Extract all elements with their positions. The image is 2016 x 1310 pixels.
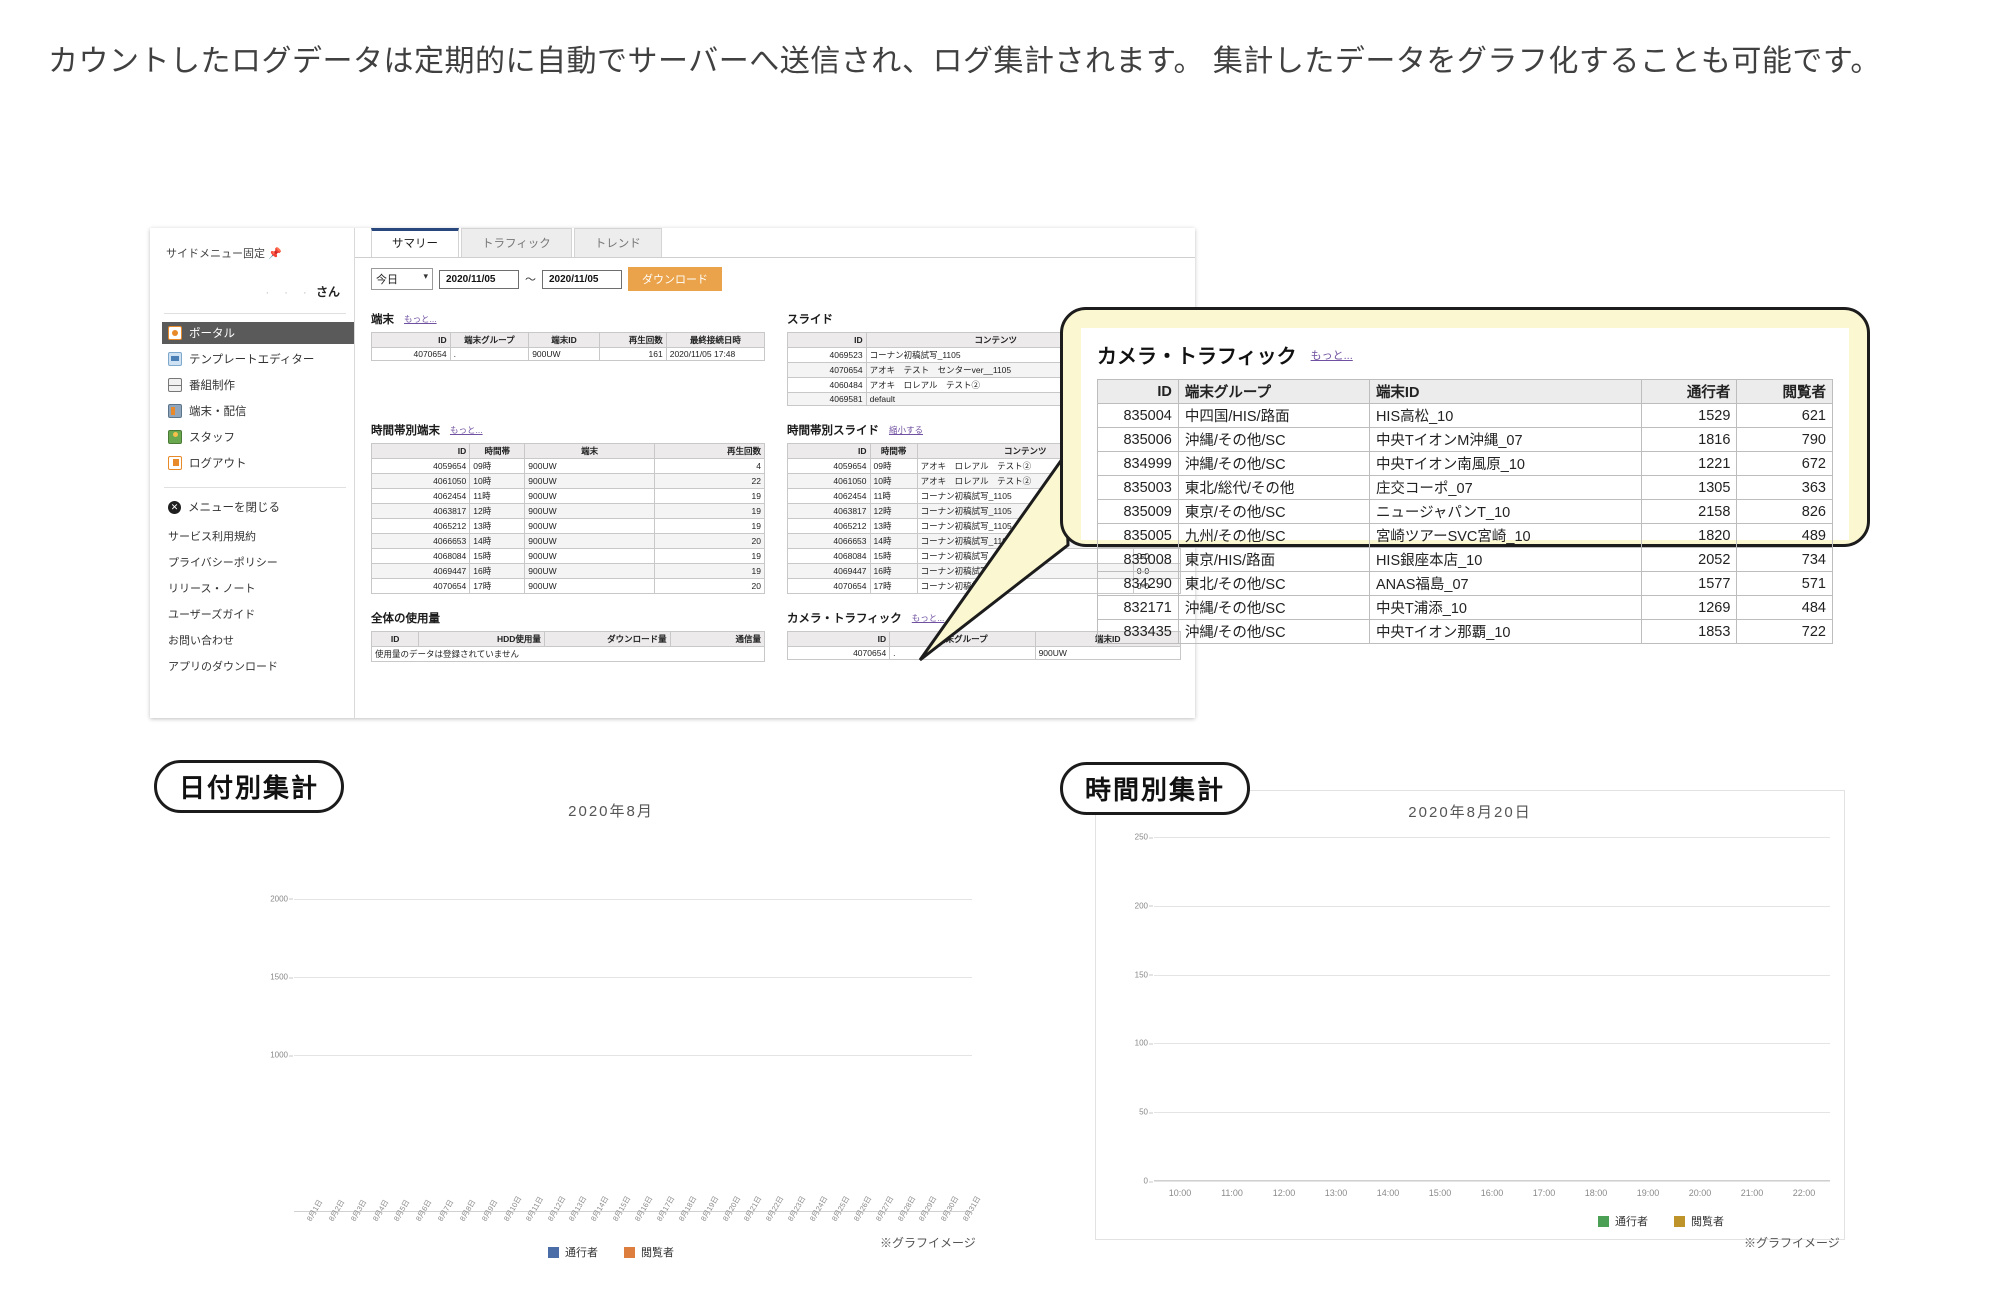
- sidebar-item-label: 端末・配信: [189, 403, 247, 419]
- sidebar: サイドメニュー固定 📌 · · · さん ポータル テンプレートエディター 番組…: [150, 228, 355, 718]
- x-axis-label: 8月19日: [688, 1212, 710, 1270]
- badge-hourly-aggregation: 時間別集計: [1060, 762, 1250, 815]
- panel-title-text: 端末: [371, 311, 394, 327]
- tab-traffic[interactable]: トラフィック: [461, 228, 572, 257]
- cell-0: 4065212: [372, 519, 470, 534]
- x-axis-label: 8月16日: [622, 1212, 644, 1270]
- bar-slot: [710, 836, 732, 1212]
- col-id: ID: [372, 632, 419, 647]
- bar-slot: [338, 836, 360, 1212]
- bar-slot: [644, 836, 666, 1212]
- x-axis-label: 8月12日: [535, 1212, 557, 1270]
- col-device-group: 端末グループ: [450, 333, 529, 348]
- cell-1: 中四国/HIS/路面: [1178, 404, 1369, 428]
- bar-slot: [1622, 837, 1674, 1181]
- sidebar-divider-top: [164, 313, 346, 314]
- date-to-input[interactable]: 2020/11/05: [542, 270, 622, 289]
- col-play-count: 再生回数: [599, 333, 666, 348]
- cell-2: ニュージャパンT_10: [1369, 500, 1641, 524]
- sidebar-item-portal[interactable]: ポータル: [162, 322, 354, 344]
- x-axis-label: 8月17日: [644, 1212, 666, 1270]
- cell-0: 4062454: [788, 489, 871, 504]
- panel-device-more-link[interactable]: もっと...: [404, 313, 437, 325]
- x-axis-label: 8月11日: [513, 1212, 535, 1270]
- legend-item-passers[interactable]: 通行者: [548, 1244, 598, 1260]
- staff-icon: [168, 430, 182, 444]
- cell-0: 834999: [1098, 452, 1179, 476]
- panel-device-hourly-title: 時間帯別端末 もっと...: [371, 422, 765, 438]
- x-axis-label: 10:00: [1154, 1181, 1206, 1239]
- cell-2: 900UW: [525, 474, 655, 489]
- cell-0: 4061050: [372, 474, 470, 489]
- y-axis-tick: 0: [1144, 1177, 1148, 1186]
- y-axis-tick: 200: [1135, 901, 1148, 910]
- cell-3: 1529: [1641, 404, 1737, 428]
- x-axis-label: 8月25日: [819, 1212, 841, 1270]
- cell-3: 20: [654, 579, 764, 594]
- cell-4: 790: [1737, 428, 1833, 452]
- panel-usage: 全体の使用量 ID HDD使用量 ダウンロード量 通信量 使用量のデータは登録さ…: [371, 604, 765, 662]
- callout-camera-traffic-table: ID 端末グループ 端末ID 通行者 閲覧者 835004中四国/HIS/路面H…: [1097, 379, 1833, 644]
- page-headline: カウントしたログデータは定期的に自動でサーバーへ送信され、ログ集計されます。 集…: [48, 36, 1948, 80]
- table-row: 834290東北/その他/SCANAS福島_071577571: [1098, 572, 1833, 596]
- cell-2: ANAS福島_07: [1369, 572, 1641, 596]
- tab-trend[interactable]: トレンド: [574, 228, 662, 257]
- cell-0: 4068084: [372, 549, 470, 564]
- bar-slot: [1258, 837, 1310, 1181]
- bar-slot: [600, 836, 622, 1212]
- bar-slot: [907, 836, 929, 1212]
- col-hdd-usage: HDD使用量: [419, 632, 545, 647]
- legend-label: 閲覧者: [641, 1244, 674, 1260]
- dashboard-screenshot: サイドメニュー固定 📌 · · · さん ポータル テンプレートエディター 番組…: [150, 228, 1195, 718]
- table-row: 406105010時900UW22: [372, 474, 765, 489]
- cell-2: HIS高松_10: [1369, 404, 1641, 428]
- date-range-select[interactable]: 今日: [371, 268, 433, 290]
- cell-1: 16時: [470, 564, 525, 579]
- cell-3: 22: [654, 474, 764, 489]
- col-device-id: 端末ID: [1369, 380, 1641, 404]
- bar-slot: [1414, 837, 1466, 1181]
- cell-1: 12時: [870, 504, 917, 519]
- download-button[interactable]: ダウンロード: [628, 267, 722, 291]
- cell-0: 4066653: [372, 534, 470, 549]
- cell-id: 4060484: [788, 378, 867, 393]
- cell-4: 734: [1737, 548, 1833, 572]
- user-name-row: · · · さん: [164, 283, 354, 300]
- bar-slot: [1362, 837, 1414, 1181]
- bar-slot: [885, 836, 907, 1212]
- bar-slot: [294, 836, 316, 1212]
- cell-3: 1820: [1641, 524, 1737, 548]
- cell-2: 中央Tイオン那覇_10: [1369, 620, 1641, 644]
- x-axis-label: 8月8日: [447, 1212, 469, 1270]
- sidebar-item-staff[interactable]: スタッフ: [164, 426, 354, 448]
- bar-slot: [753, 836, 775, 1212]
- cell-3: 19: [654, 564, 764, 579]
- cell-0: 833435: [1098, 620, 1179, 644]
- sidebar-item-template-editor[interactable]: テンプレートエディター: [164, 348, 354, 370]
- cell-1: 15時: [870, 549, 917, 564]
- badge-daily-aggregation: 日付別集計: [154, 760, 344, 813]
- dashboard-toolbar: 今日 2020/11/05 ～ 2020/11/05 ダウンロード: [355, 258, 1195, 300]
- cell-1: 16時: [870, 564, 917, 579]
- cell-0: 4061050: [788, 474, 871, 489]
- bar-slot: [469, 836, 491, 1212]
- x-axis-label: 8月2日: [316, 1212, 338, 1270]
- bar-slot: [1726, 837, 1778, 1181]
- cell-1: 17時: [870, 579, 917, 594]
- sidebar-item-device-delivery[interactable]: 端末・配信: [164, 400, 354, 422]
- legend-swatch: [624, 1247, 635, 1258]
- panel-device-hourly-more-link[interactable]: もっと...: [450, 424, 483, 436]
- bar-slot: [578, 836, 600, 1212]
- table-row: 835009東京/その他/SCニュージャパンT_102158826: [1098, 500, 1833, 524]
- legend-item-viewers[interactable]: 閲覧者: [1674, 1213, 1724, 1229]
- program-production-icon: [168, 378, 182, 392]
- table-row: 406381712時900UW19: [372, 504, 765, 519]
- table-row: 832171沖縄/その他/SC中央T浦添_101269484: [1098, 596, 1833, 620]
- cell-1: 09時: [870, 459, 917, 474]
- panel-device: 端末 もっと... ID 端末グループ 端末ID 再生回数 最終接続日時 407…: [371, 305, 765, 406]
- col-device-group: 端末グループ: [890, 632, 1035, 647]
- panel-title-text: 時間帯別スライド: [787, 422, 879, 438]
- chart-hourly-note: ※グラフイメージ: [1744, 1234, 1840, 1251]
- sidebar-item-logout[interactable]: ログアウト: [164, 452, 354, 474]
- panel-title-text: 全体の使用量: [371, 610, 440, 626]
- cell-2: 900UW: [525, 459, 655, 474]
- cell-4: 484: [1737, 596, 1833, 620]
- bar-slot: [863, 836, 885, 1212]
- chart-daily-legend: 通行者 閲覧者: [236, 1244, 986, 1260]
- x-axis-label: 19:00: [1622, 1181, 1674, 1239]
- cell-4: 826: [1737, 500, 1833, 524]
- cell-device-id: 900UW: [1035, 647, 1180, 660]
- panel-title-text: 時間帯別端末: [371, 422, 440, 438]
- table-row: 406521213時900UW19: [372, 519, 765, 534]
- cell-0: 834290: [1098, 572, 1179, 596]
- cell-0: 835009: [1098, 500, 1179, 524]
- x-axis-label: 8月14日: [578, 1212, 600, 1270]
- cell-4: 722: [1737, 620, 1833, 644]
- pin-icon[interactable]: 📌: [268, 248, 282, 260]
- portal-icon: [168, 326, 182, 340]
- panel-camera-more-link[interactable]: もっと...: [912, 612, 945, 624]
- x-axis-label: 8月5日: [382, 1212, 404, 1270]
- x-axis-label: 8月3日: [338, 1212, 360, 1270]
- y-axis-tick: 100: [1135, 1039, 1148, 1048]
- cell-device-group: .: [450, 348, 529, 361]
- sidebar-pin-toggle[interactable]: サイドメニュー固定 📌: [166, 245, 354, 261]
- col-play-count: 再生回数: [654, 444, 764, 459]
- cell-1: 10時: [870, 474, 917, 489]
- cell-1: 14時: [870, 534, 917, 549]
- cell-3: 1816: [1641, 428, 1737, 452]
- col-traffic: 通信量: [670, 632, 764, 647]
- panel-slide-hourly-collapse-link[interactable]: 縮小する: [889, 424, 923, 436]
- table-row: 4070654 . 900UW 161 2020/11/05 17:48: [372, 348, 765, 361]
- sidebar-links: サービス利用規約 プライバシーポリシー リリース・ノート ユーザーズガイド お問…: [164, 523, 354, 679]
- chart-hourly-xlabels: 10:0011:0012:0013:0014:0015:0016:0017:00…: [1154, 1181, 1830, 1239]
- callout-content: カメラ・トラフィック もっと... ID 端末グループ 端末ID 通行者 閲覧者…: [1081, 328, 1849, 540]
- sidebar-link-contact[interactable]: お問い合わせ: [164, 627, 354, 653]
- cell-id: 4070654: [372, 348, 451, 361]
- x-axis-label: 8月20日: [710, 1212, 732, 1270]
- cell-0: 4070654: [788, 579, 871, 594]
- cell-1: 14時: [470, 534, 525, 549]
- y-axis-tick: 250: [1135, 833, 1148, 842]
- cell-1: 15時: [470, 549, 525, 564]
- chart-daily: 2020年8月 100015002000 8月1日8月2日8月3日8月4日8月5…: [236, 790, 986, 1270]
- template-editor-icon: [168, 352, 182, 366]
- legend-item-passers[interactable]: 通行者: [1598, 1213, 1648, 1229]
- user-name-suffix: さん: [316, 285, 340, 299]
- device-delivery-icon: [168, 404, 182, 418]
- cell-3: 2158: [1641, 500, 1737, 524]
- x-axis-label: 8月18日: [666, 1212, 688, 1270]
- cell-3: 20: [654, 534, 764, 549]
- cell-1: 東北/総代/その他: [1178, 476, 1369, 500]
- bar-slot: [928, 836, 950, 1212]
- cell-0: 4069447: [372, 564, 470, 579]
- cell-3: 1269: [1641, 596, 1737, 620]
- sidebar-item-program-production[interactable]: 番組制作: [164, 374, 354, 396]
- x-axis-label: 8月13日: [557, 1212, 579, 1270]
- callout-more-link[interactable]: もっと...: [1311, 347, 1353, 363]
- sidebar-nav: ポータル テンプレートエディター 番組制作 端末・配信 スタッフ ログアウト: [164, 322, 354, 474]
- col-hour: 時間帯: [870, 444, 917, 459]
- col-viewers: 閲覧者: [1737, 380, 1833, 404]
- device-hourly-body: 405965409時900UW4406105010時900UW224062454…: [372, 459, 765, 594]
- bar-slot: [666, 836, 688, 1212]
- panel-title-text: スライド: [787, 311, 833, 327]
- sidebar-item-label: ログアウト: [189, 455, 247, 471]
- cell-3: 1577: [1641, 572, 1737, 596]
- chart-hourly: 2020年8月20日 050100150200250 10:0011:0012:…: [1095, 790, 1845, 1240]
- x-axis-label: 8月24日: [797, 1212, 819, 1270]
- table-row: 407065417時900UW20: [372, 579, 765, 594]
- chart-daily-note: ※グラフイメージ: [880, 1234, 976, 1251]
- x-axis-label: 8月21日: [732, 1212, 754, 1270]
- bar-slot: [797, 836, 819, 1212]
- bar-slot: [732, 836, 754, 1212]
- x-axis-label: 8月4日: [360, 1212, 382, 1270]
- cell-id: 4070654: [788, 647, 890, 660]
- cell-1: 東京/その他/SC: [1178, 500, 1369, 524]
- device-hourly-table: ID 時間帯 端末 再生回数 405965409時900UW4406105010…: [371, 443, 765, 594]
- cell-0: 4062454: [372, 489, 470, 504]
- panel-title-text: カメラ・トラフィック: [787, 610, 902, 626]
- cell-1: 九州/その他/SC: [1178, 524, 1369, 548]
- chart-hourly-legend: 通行者 閲覧者: [1096, 1213, 1844, 1229]
- cell-4: 489: [1737, 524, 1833, 548]
- close-icon: ✕: [168, 501, 181, 514]
- cell-0: 832171: [1098, 596, 1179, 620]
- panel-device-title: 端末 もっと...: [371, 311, 765, 327]
- sidebar-item-label: ポータル: [189, 325, 235, 341]
- x-axis-label: 17:00: [1518, 1181, 1570, 1239]
- cell-0: 835008: [1098, 548, 1179, 572]
- sidebar-link-terms[interactable]: サービス利用規約: [164, 523, 354, 549]
- bar-slot: [447, 836, 469, 1212]
- bar-slot: [1466, 837, 1518, 1181]
- table-row: 4070654 . 900UW: [788, 647, 1181, 660]
- x-axis-label: 8月9日: [469, 1212, 491, 1270]
- dashboard-tabs: サマリー トラフィック トレンド: [355, 228, 1195, 258]
- cell-4: 571: [1737, 572, 1833, 596]
- x-axis-label: 8月26日: [841, 1212, 863, 1270]
- bar-slot: [316, 836, 338, 1212]
- bar-slot: [403, 836, 425, 1212]
- cell-1: 11時: [870, 489, 917, 504]
- cell-3: 1305: [1641, 476, 1737, 500]
- bar-slot: [1518, 837, 1570, 1181]
- bar-slot: [382, 836, 404, 1212]
- cell-3: 19: [654, 549, 764, 564]
- logout-icon: [168, 456, 182, 470]
- cell-2: 900UW: [525, 504, 655, 519]
- cell-0: 835003: [1098, 476, 1179, 500]
- col-id: ID: [788, 444, 871, 459]
- user-name-masked: · · ·: [266, 287, 313, 299]
- col-device-id: 端末ID: [529, 333, 600, 348]
- date-from-input[interactable]: 2020/11/05: [439, 270, 519, 289]
- col-device-group: 端末グループ: [1178, 380, 1369, 404]
- col-last-connect: 最終接続日時: [666, 333, 764, 348]
- camera-traffic-callout: カメラ・トラフィック もっと... ID 端末グループ 端末ID 通行者 閲覧者…: [1060, 307, 1870, 547]
- callout-table-body: 835004中四国/HIS/路面HIS高松_101529621835006沖縄/…: [1098, 404, 1833, 644]
- col-hour: 時間帯: [470, 444, 525, 459]
- bar-slot: [841, 836, 863, 1212]
- cell-1: 沖縄/その他/SC: [1178, 428, 1369, 452]
- table-header-row: ID 端末グループ 端末ID 再生回数 最終接続日時: [372, 333, 765, 348]
- cell-2: 庄交コーポ_07: [1369, 476, 1641, 500]
- table-row: 834999沖縄/その他/SC中央Tイオン南風原_101221672: [1098, 452, 1833, 476]
- sidebar-close-menu[interactable]: ✕ メニューを閉じる: [164, 496, 354, 518]
- cell-1: 沖縄/その他/SC: [1178, 452, 1369, 476]
- table-row: 406665314時900UW20: [372, 534, 765, 549]
- table-row: 835003東北/総代/その他庄交コーポ_071305363: [1098, 476, 1833, 500]
- cell-3: 19: [654, 489, 764, 504]
- sidebar-link-app-download[interactable]: アプリのダウンロード: [164, 653, 354, 679]
- x-axis-label: 8月22日: [753, 1212, 775, 1270]
- col-download: ダウンロード量: [544, 632, 670, 647]
- cell-2: 宮崎ツアーSVC宮崎_10: [1369, 524, 1641, 548]
- x-axis-label: 18:00: [1570, 1181, 1622, 1239]
- cell-2: HIS銀座本店_10: [1369, 548, 1641, 572]
- cell-0: 4070654: [372, 579, 470, 594]
- bar-slot: [688, 836, 710, 1212]
- table-header-row: ID 端末グループ 端末ID 通行者 閲覧者: [1098, 380, 1833, 404]
- bar-slot: [1674, 837, 1726, 1181]
- x-axis-label: 8月1日: [294, 1212, 316, 1270]
- cell-1: 東京/HIS/路面: [1178, 548, 1369, 572]
- cell-1: 13時: [470, 519, 525, 534]
- bar-slot: [535, 836, 557, 1212]
- sidebar-link-release-notes[interactable]: リリース・ノート: [164, 575, 354, 601]
- table-row: 406808415時900UW19: [372, 549, 765, 564]
- x-axis-label: 8月7日: [425, 1212, 447, 1270]
- cell-0: 4063817: [788, 504, 871, 519]
- bar-slot: [360, 836, 382, 1212]
- sidebar-item-label: テンプレートエディター: [189, 351, 314, 367]
- table-row: 835005九州/その他/SC宮崎ツアーSVC宮崎_101820489: [1098, 524, 1833, 548]
- callout-title: カメラ・トラフィック もっと...: [1097, 340, 1833, 369]
- cell-0: 4069447: [788, 564, 871, 579]
- sidebar-item-label: スタッフ: [189, 429, 235, 445]
- bar-slot: [425, 836, 447, 1212]
- cell-play-count: 161: [599, 348, 666, 361]
- cell-1: 東北/その他/SC: [1178, 572, 1369, 596]
- panel-device-hourly: 時間帯別端末 もっと... ID 時間帯 端末 再生回数 405965409時9…: [371, 416, 765, 594]
- y-axis-tick: 50: [1139, 1108, 1148, 1117]
- cell-device-group: .: [890, 647, 1035, 660]
- col-id: ID: [788, 333, 867, 348]
- chart-hourly-plot: 050100150200250: [1154, 837, 1830, 1181]
- cell-0: 4063817: [372, 504, 470, 519]
- y-axis-tick: 150: [1135, 970, 1148, 979]
- sidebar-close-menu-label: メニューを閉じる: [188, 499, 280, 515]
- bar-slot: [775, 836, 797, 1212]
- x-axis-label: 20:00: [1674, 1181, 1726, 1239]
- sidebar-item-label: 番組制作: [189, 377, 235, 393]
- cell-device-id: 900UW: [529, 348, 600, 361]
- chart-daily-plot: 100015002000: [294, 836, 972, 1212]
- bar-slot: [1206, 837, 1258, 1181]
- cell-id: 4070654: [788, 363, 867, 378]
- col-id: ID: [372, 333, 451, 348]
- cell-2: 900UW: [525, 549, 655, 564]
- cell-3: 4: [654, 459, 764, 474]
- bar-slot: [950, 836, 972, 1212]
- cell-1: 11時: [470, 489, 525, 504]
- x-axis-label: 22:00: [1778, 1181, 1830, 1239]
- chart-daily-title: 2020年8月: [236, 800, 986, 821]
- legend-item-viewers[interactable]: 閲覧者: [624, 1244, 674, 1260]
- empty-message: 使用量のデータは登録されていません: [372, 647, 765, 662]
- sidebar-link-users-guide[interactable]: ユーザーズガイド: [164, 601, 354, 627]
- cell-1: 09時: [470, 459, 525, 474]
- table-row-empty: 使用量のデータは登録されていません: [372, 647, 765, 662]
- table-row: 835008東京/HIS/路面HIS銀座本店_102052734: [1098, 548, 1833, 572]
- cell-0: 4065212: [788, 519, 871, 534]
- x-axis-label: 15:00: [1414, 1181, 1466, 1239]
- legend-swatch: [1598, 1216, 1609, 1227]
- x-axis-label: 8月6日: [403, 1212, 425, 1270]
- cell-4: 672: [1737, 452, 1833, 476]
- date-range-separator: ～: [525, 271, 536, 287]
- cell-0: 4068084: [788, 549, 871, 564]
- x-axis-label: 11:00: [1206, 1181, 1258, 1239]
- cell-2: 中央T浦添_10: [1369, 596, 1641, 620]
- cell-id: 4069523: [788, 348, 867, 363]
- bar-slot: [557, 836, 579, 1212]
- cell-0: 835005: [1098, 524, 1179, 548]
- cell-1: 12時: [470, 504, 525, 519]
- table-row: 405965409時900UW4: [372, 459, 765, 474]
- cell-2: 900UW: [525, 564, 655, 579]
- tab-summary[interactable]: サマリー: [371, 228, 459, 257]
- sidebar-link-privacy[interactable]: プライバシーポリシー: [164, 549, 354, 575]
- cell-0: 4066653: [788, 534, 871, 549]
- cell-0: 4059654: [372, 459, 470, 474]
- bar-slot: [1778, 837, 1830, 1181]
- x-axis-label: 8月15日: [600, 1212, 622, 1270]
- cell-1: 13時: [870, 519, 917, 534]
- table-header-row: ID HDD使用量 ダウンロード量 通信量: [372, 632, 765, 647]
- x-axis-label: 8月23日: [775, 1212, 797, 1270]
- table-row: 833435沖縄/その他/SC中央Tイオン那覇_101853722: [1098, 620, 1833, 644]
